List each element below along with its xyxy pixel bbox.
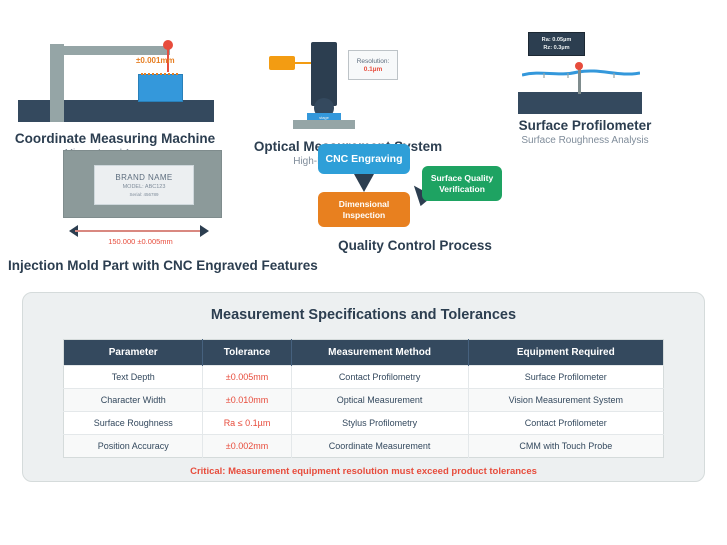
dimension-arrow-right-icon [200,225,209,237]
cmm-illustration: ±0.001mm [10,28,220,128]
cmm-tolerance-label: ±0.001mm [136,56,175,65]
flow-arrow-down-icon [354,174,374,192]
table-row: Surface Roughness Ra ≤ 0.1µm Stylus Prof… [64,412,664,435]
cell-parameter: Position Accuracy [64,435,203,458]
column-header-parameter: Parameter [64,340,203,366]
cell-tolerance: Ra ≤ 0.1µm [203,412,291,435]
cell-equipment: Contact Profilometer [468,412,663,435]
cell-equipment: Surface Profilometer [468,366,663,389]
flow-node-cnc-engraving[interactable]: CNC Engraving [318,144,410,174]
profilometer-stylus-icon [578,66,581,94]
cmm-measurement-dotted-line [141,73,178,75]
table-row: Character Width ±0.010mm Optical Measure… [64,389,664,412]
mold-part-title: Injection Mold Part with CNC Engraved Fe… [8,258,288,273]
cmm-probe-tip-icon [163,40,173,50]
mold-part-body-icon: BRAND NAME MODEL: ABC123 Serial: 456789 [63,150,222,218]
specifications-table: Parameter Tolerance Measurement Method E… [63,339,664,458]
optical-light-source-icon [269,56,295,70]
optical-base-plate-icon [293,120,355,129]
cmm-workpiece-icon [138,74,183,102]
cell-tolerance: ±0.010mm [203,389,291,412]
column-header-equipment-required: Equipment Required [468,340,663,366]
dimension-line [75,230,205,232]
column-header-tolerance: Tolerance [203,340,291,366]
optical-resolution-value: 0.1µm [364,66,383,73]
optical-camera-body-icon [311,42,337,106]
mold-engraved-plate: BRAND NAME MODEL: ABC123 Serial: 456789 [94,165,194,205]
cmm-arm-icon [57,46,170,55]
optical-resolution-callout: Resolution: 0.1µm [348,50,398,80]
cell-tolerance: ±0.005mm [203,366,291,389]
profilometer-ra-label: Ra: 0.05µm [542,36,572,44]
spec-panel-critical-note: Critical: Measurement equipment resoluti… [23,466,704,477]
cmm-base-icon [18,100,214,122]
cell-method: Optical Measurement [291,389,468,412]
flowchart-title: Quality Control Process [310,238,520,253]
column-header-measurement-method: Measurement Method [291,340,468,366]
flow-node-surface-quality-verification[interactable]: Surface Quality Verification [422,166,502,201]
profilometer-title: Surface Profilometer [495,118,675,133]
flow-node-dimensional-inspection[interactable]: Dimensional Inspection [318,192,410,227]
cell-parameter: Text Depth [64,366,203,389]
cell-method: Coordinate Measurement [291,435,468,458]
mold-dimension-label: 150.000 ±0.005mm [63,237,218,246]
optical-measurement-illustration: stage Resolution: 0.1µm [255,28,440,128]
cmm-column-icon [50,44,64,122]
specification-panel: Measurement Specifications and Tolerance… [22,292,705,482]
cell-tolerance: ±0.002mm [203,435,291,458]
profilometer-subtitle: Surface Roughness Analysis [495,135,675,146]
cell-parameter: Character Width [64,389,203,412]
illustration-stage: ±0.001mm Coordinate Measuring Machine Mi… [0,0,727,545]
table-header-row: Parameter Tolerance Measurement Method E… [64,340,664,366]
table-row: Text Depth ±0.005mm Contact Profilometry… [64,366,664,389]
cell-method: Contact Profilometry [291,366,468,389]
quality-control-flowchart: CNC Engraving Dimensional Inspection Sur… [310,140,520,245]
cell-equipment: Vision Measurement System [468,389,663,412]
optical-resolution-caption: Resolution: [357,58,390,65]
profilometer-illustration: Ra: 0.05µm Rz: 0.3µm [500,28,670,123]
mold-brand-text: BRAND NAME [115,173,172,182]
mold-model-text: MODEL: ABC123 [123,184,166,190]
profilometer-surface-profile-icon [522,68,640,80]
profilometer-roughness-callout: Ra: 0.05µm Rz: 0.3µm [528,32,585,56]
cmm-title: Coordinate Measuring Machine [10,131,220,146]
cell-equipment: CMM with Touch Probe [468,435,663,458]
cell-parameter: Surface Roughness [64,412,203,435]
profilometer-base-icon [518,92,642,114]
cell-method: Stylus Profilometry [291,412,468,435]
profilometer-stylus-tip-icon [575,62,583,70]
spec-panel-title: Measurement Specifications and Tolerance… [23,307,704,323]
profilometer-rz-label: Rz: 0.3µm [543,44,569,52]
mold-serial-text: Serial: 456789 [129,192,158,197]
table-row: Position Accuracy ±0.002mm Coordinate Me… [64,435,664,458]
mold-part-illustration: BRAND NAME MODEL: ABC123 Serial: 456789 … [63,150,228,250]
